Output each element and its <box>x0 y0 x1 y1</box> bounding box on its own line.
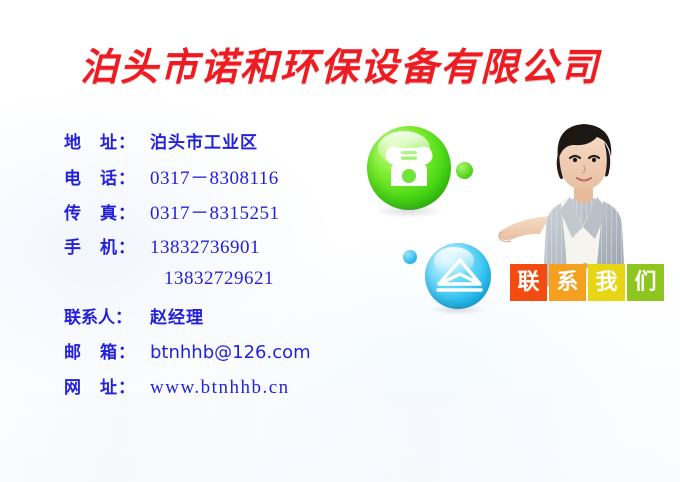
telephone-glyph <box>367 126 451 210</box>
contact-label-email: 邮 箱： <box>64 338 150 363</box>
contact-value-mobile-primary: 13832736901 <box>150 237 260 259</box>
contact-row-website: 网 址： www.btnhhb.cn <box>64 373 364 408</box>
contact-banner: 泊头市诺和环保设备有限公司 地 址： 泊头市工业区 电 话： 0317－8308… <box>0 0 680 482</box>
green-dot <box>456 162 473 179</box>
contact-value-telephone: 0317－8308116 <box>150 163 279 190</box>
contact-value-person: 赵经理 <box>150 303 204 328</box>
contact-row-person: 联系人： 赵经理 <box>64 303 364 338</box>
contact-row-address: 地 址： 泊头市工业区 <box>64 128 364 163</box>
word-block-xi: 系 <box>549 264 586 301</box>
company-title: 泊头市诺和环保设备有限公司 <box>0 36 680 91</box>
contact-label-address: 地 址： <box>64 128 150 153</box>
contact-label-mobile: 手 机： <box>64 233 150 258</box>
contact-value-address: 泊头市工业区 <box>150 128 258 153</box>
contact-row-fax: 传 真： 0317－8315251 <box>64 198 364 233</box>
word-block-wo: 我 <box>588 264 625 301</box>
contact-row-telephone: 电 话： 0317－8308116 <box>64 163 364 198</box>
contact-us-blocks: 联 系 我 们 <box>510 264 664 301</box>
contact-label-person: 联系人： <box>64 303 150 328</box>
envelope-glyph <box>425 243 491 309</box>
contact-value-fax: 0317－8315251 <box>150 198 280 225</box>
word-block-lian: 联 <box>510 264 547 301</box>
contact-value-mobile-secondary: 13832729621 <box>164 268 274 290</box>
contact-row-mobile-secondary: 13832729621 <box>64 268 364 303</box>
word-block-men: 们 <box>627 264 664 301</box>
contact-row-mobile-primary: 手 机： 13832736901 <box>64 233 364 268</box>
envelope-icon <box>425 243 491 309</box>
businesswoman-photo <box>486 98 680 288</box>
telephone-icon <box>367 126 451 210</box>
contact-value-email: btnhhb@126.com <box>150 342 311 363</box>
blue-dot <box>403 250 417 264</box>
contact-label-telephone: 电 话： <box>64 164 150 189</box>
contact-label-fax: 传 真： <box>64 199 150 224</box>
businesswoman-illustration <box>486 98 680 288</box>
contact-value-website: www.btnhhb.cn <box>150 377 290 399</box>
contact-label-website: 网 址： <box>64 373 150 398</box>
contact-row-email: 邮 箱： btnhhb@126.com <box>64 338 364 373</box>
contact-list: 地 址： 泊头市工业区 电 话： 0317－8308116 传 真： 0317－… <box>64 128 364 408</box>
